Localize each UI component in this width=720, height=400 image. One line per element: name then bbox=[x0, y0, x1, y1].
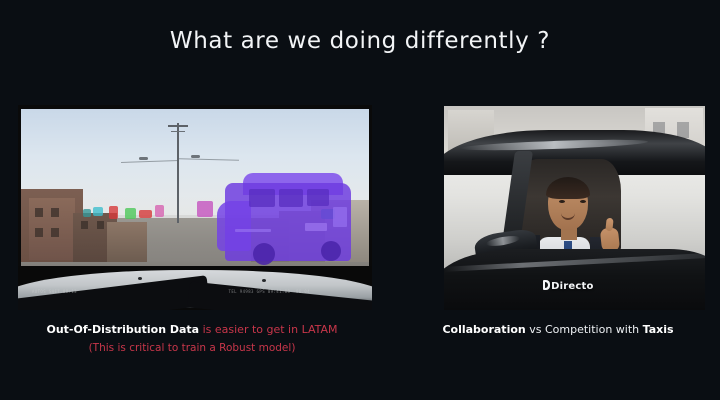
van-wheel-mask bbox=[253, 243, 275, 265]
window-icon bbox=[97, 221, 104, 229]
segmentation-mask-vehicle bbox=[83, 209, 91, 217]
street-lamp-icon bbox=[139, 157, 148, 160]
segmentation-mask-vehicle bbox=[125, 208, 136, 219]
dashcam-hood: AUTOS SHET 09:13 TEL 94983 GPS 09:41:08 … bbox=[18, 266, 372, 310]
caption-right-bold-1: Collaboration bbox=[442, 323, 525, 336]
van-wheel-mask bbox=[321, 241, 341, 261]
dashcam-osd-right: TEL 94983 GPS 09:41:08 -96.04 bbox=[229, 289, 310, 294]
window-icon bbox=[51, 228, 59, 237]
dashcam-osd-left: AUTOS SHET 09:13 bbox=[32, 289, 77, 294]
page-title: What are we doing differently ? bbox=[0, 28, 720, 54]
driver-neck bbox=[561, 228, 577, 240]
segmentation-mask-vehicle bbox=[197, 201, 213, 217]
dashcam-image: AUTOS SHET 09:13 TEL 94983 GPS 09:41:08 … bbox=[18, 105, 372, 310]
caption-left-bold: Out-Of-Distribution Data bbox=[46, 323, 199, 336]
building-left-2 bbox=[29, 198, 75, 260]
car-brand-logo-text: Directo bbox=[551, 281, 593, 292]
caption-right-line1: Collaboration vs Competition with Taxis bbox=[396, 322, 720, 337]
window-icon bbox=[51, 208, 59, 217]
caption-left-line1: Out-Of-Distribution Data is easier to ge… bbox=[0, 322, 384, 337]
segmentation-mask-vehicle bbox=[109, 206, 118, 219]
slide-root: What are we doing differently ? bbox=[0, 0, 720, 400]
segmentation-mask-van bbox=[217, 167, 351, 267]
window-icon bbox=[81, 221, 88, 229]
hood-detail bbox=[262, 279, 266, 282]
caption-right-bold-2: Taxis bbox=[643, 323, 674, 336]
van-front-mask bbox=[217, 201, 251, 251]
segmentation-mask-vehicle bbox=[155, 205, 164, 217]
dashcam-frame bbox=[21, 109, 369, 291]
car-brand-logo: Directo bbox=[543, 280, 593, 292]
van-plate-mask bbox=[305, 223, 327, 231]
van-window-mask bbox=[307, 189, 329, 206]
driver-eye-left bbox=[559, 200, 565, 203]
van-window-mask bbox=[249, 189, 275, 207]
segmentation-mask-vehicle bbox=[139, 210, 152, 218]
utility-pole bbox=[177, 123, 179, 223]
caption-left: Out-Of-Distribution Data is easier to ge… bbox=[0, 322, 384, 356]
van-trim-mask bbox=[235, 229, 271, 232]
panel-taxi-driver-photo: Directo bbox=[444, 106, 705, 310]
window-icon bbox=[35, 208, 43, 217]
window-icon bbox=[35, 228, 43, 237]
directo-logo-mark-icon bbox=[543, 280, 550, 290]
segmentation-mask-vehicle bbox=[93, 207, 103, 216]
caption-right-normal: vs Competition with bbox=[529, 323, 639, 336]
van-trim-mask bbox=[333, 207, 347, 227]
taxi-image: Directo bbox=[444, 106, 705, 310]
driver-eye-right bbox=[580, 200, 586, 203]
caption-left-line2: (This is critical to train a Robust mode… bbox=[0, 341, 384, 356]
caption-right: Collaboration vs Competition with Taxis bbox=[396, 322, 720, 337]
pole-crossarm bbox=[171, 131, 185, 132]
street-lamp-icon bbox=[191, 155, 200, 158]
pole-crossarm bbox=[168, 125, 188, 127]
van-window-mask bbox=[279, 189, 303, 207]
hood-detail bbox=[138, 277, 142, 280]
caption-left-accent: is easier to get in LATAM bbox=[203, 323, 338, 336]
building-left-4 bbox=[107, 222, 147, 262]
panel-dashcam-street-scene: AUTOS SHET 09:13 TEL 94983 GPS 09:41:08 … bbox=[18, 105, 372, 310]
